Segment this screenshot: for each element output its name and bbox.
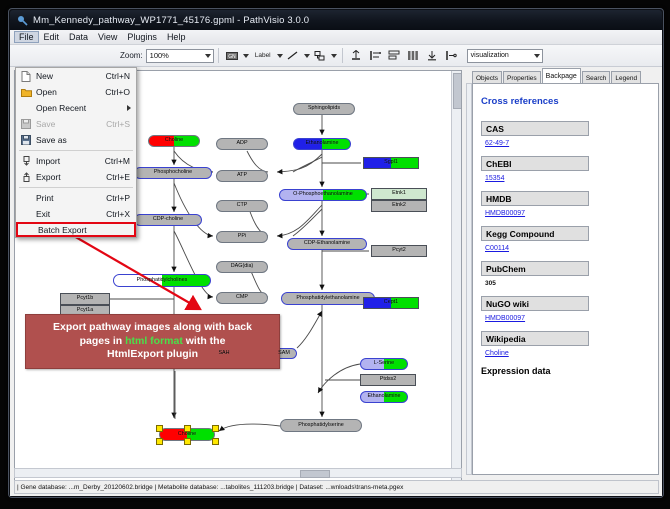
xref-header-label: CAS — [486, 124, 504, 134]
menu-separator — [19, 150, 133, 151]
pathway-node-gene[interactable]: Etnk2 — [371, 200, 427, 212]
canvas-vertical-scrollbar[interactable] — [451, 71, 461, 489]
file-menu-item-save[interactable]: SaveCtrl+S — [16, 116, 136, 132]
distribute-button[interactable] — [386, 47, 403, 64]
node-label: SAM — [278, 351, 290, 356]
menu-plugins[interactable]: Plugins — [122, 31, 162, 43]
datanode-dropdown-icon[interactable] — [242, 48, 250, 63]
menu-item-accelerator: Ctrl+S — [106, 119, 136, 129]
xref-value-chebi[interactable]: 15354 — [485, 175, 658, 182]
save-as-icon — [16, 135, 36, 145]
annotation-highlight: html format — [125, 335, 183, 347]
xref-header-label: Wikipedia — [486, 334, 526, 344]
annotation-line-2: pages in html format with the — [53, 335, 252, 349]
pathway-node-metabolite[interactable]: ATP — [216, 170, 268, 182]
xref-value-hmdb[interactable]: HMDB00097 — [485, 210, 658, 217]
node-label: CDP-Ethanolamine — [304, 241, 350, 246]
node-label: Ethanolamine — [306, 141, 339, 146]
xref-header-cas: CAS — [481, 121, 589, 136]
pathway-node-metabolite[interactable]: Phosphatidylcholines — [113, 274, 211, 287]
pathway-node-gene[interactable]: Etnk1 — [371, 188, 427, 200]
window-titlebar: Mm_Kennedy_pathway_WP1771_45176.gpml - P… — [10, 10, 662, 30]
selection-handle[interactable] — [212, 438, 219, 445]
xref-header-chebi: ChEBI — [481, 156, 589, 171]
menu-item-label: Import — [36, 156, 105, 166]
toolbar: Zoom: 100% GN Label — [10, 45, 662, 67]
visualization-value: visualization — [471, 52, 509, 59]
menu-edit[interactable]: Edit — [39, 31, 65, 43]
selection-handle[interactable] — [184, 438, 191, 445]
file-menu-item-exit[interactable]: ExitCtrl+X — [16, 206, 136, 222]
export-icon — [16, 172, 36, 182]
node-label: CTP — [237, 203, 248, 208]
menu-file[interactable]: File — [14, 31, 39, 43]
chevron-down-icon — [205, 54, 211, 58]
pathway-node-metabolite[interactable]: Phosphatidylserine — [280, 419, 362, 432]
node-label: Ethanolamine — [368, 394, 401, 399]
node-label: Phosphocholine — [154, 170, 192, 175]
file-menu-item-new[interactable]: NewCtrl+N — [16, 68, 136, 84]
xref-value-pubchem: 305 — [485, 280, 658, 287]
pathway-node-gene[interactable]: Pcyt2 — [371, 245, 427, 257]
canvas-horizontal-scrollbar[interactable] — [14, 468, 462, 478]
status-bar-text: | Gene database: ...m_Derby_20120602.bri… — [17, 484, 403, 491]
node-label: Etnk2 — [392, 203, 406, 208]
node-label: Phosphatidylethanolamine — [296, 296, 359, 301]
selection-handle[interactable] — [212, 425, 219, 432]
group-button[interactable] — [424, 47, 441, 64]
node-label: Choline — [178, 432, 196, 437]
line-tool-button[interactable] — [285, 47, 302, 64]
menu-item-accelerator: Ctrl+E — [106, 172, 136, 182]
menu-view[interactable]: View — [93, 31, 122, 43]
xref-value-kegg-compound[interactable]: C00114 — [485, 245, 658, 252]
label-tool-button[interactable]: Label — [251, 47, 275, 64]
menu-item-accelerator: Ctrl+O — [105, 87, 136, 97]
selection-handle[interactable] — [184, 425, 191, 432]
pathway-node-metabolite[interactable]: Phosphocholine — [134, 167, 212, 179]
application-window: Mm_Kennedy_pathway_WP1771_45176.gpml - P… — [8, 8, 664, 498]
pathway-node-metabolite[interactable]: O-Phosphoethanolamine — [279, 189, 367, 201]
pathway-node-metabolite[interactable]: Choline — [148, 135, 200, 147]
node-label: Ptdss2 — [380, 377, 396, 382]
node-label: Sphingolipids — [308, 106, 340, 111]
node-label: L-Serine — [374, 361, 394, 366]
xref-header-hmdb: HMDB — [481, 191, 589, 206]
visualization-select[interactable]: visualization — [467, 49, 543, 63]
annotation-line-2c: with the — [183, 335, 226, 347]
node-label: Pcyt1a — [77, 308, 93, 313]
menu-data[interactable]: Data — [64, 31, 93, 43]
tab-label: Backpage — [546, 73, 577, 80]
xref-header-kegg-compound: Kegg Compound — [481, 226, 589, 241]
pathway-node-metabolite[interactable]: CMP — [216, 292, 268, 304]
line-dropdown-icon[interactable] — [303, 48, 311, 63]
pathway-node-metabolite[interactable]: ADP — [216, 138, 268, 150]
annotation-line-2a: pages in — [80, 335, 126, 347]
menu-item-accelerator: Ctrl+P — [106, 193, 136, 203]
pathway-node-gene[interactable]: Sgpl1 — [363, 157, 419, 169]
toolbar-separator — [218, 48, 219, 63]
zoom-label: Zoom: — [120, 51, 143, 60]
node-label: Etnk1 — [392, 191, 406, 196]
file-menu-item-export[interactable]: ExportCtrl+E — [16, 169, 136, 185]
horizontal-scroll-thumb[interactable] — [300, 470, 330, 478]
file-menu-item-batch-export[interactable]: Batch Export — [16, 222, 136, 237]
node-label: Pcyt2 — [392, 248, 405, 253]
node-label: O-Phosphoethanolamine — [293, 192, 353, 197]
file-menu-item-open-recent[interactable]: Open Recent — [16, 100, 136, 116]
status-bar: | Gene database: ...m_Derby_20120602.bri… — [14, 480, 659, 494]
node-label: PPi — [238, 234, 246, 239]
file-menu-item-open[interactable]: OpenCtrl+O — [16, 84, 136, 100]
datanode-tool-button[interactable]: GN — [224, 47, 241, 64]
pathway-node-gene[interactable]: Cept1 — [363, 297, 419, 309]
shape-tool-button[interactable] — [312, 47, 329, 64]
menu-help[interactable]: Help — [162, 31, 191, 43]
menu-item-label: Print — [36, 193, 106, 203]
folder-icon — [16, 88, 36, 97]
file-menu-popup[interactable]: NewCtrl+NOpenCtrl+OOpen RecentSaveCtrl+S… — [15, 67, 137, 238]
pathvisio-icon — [17, 15, 28, 26]
cross-references-title: Cross references — [481, 96, 658, 107]
xref-value-wikipedia[interactable]: Choline — [485, 350, 658, 357]
pathway-node-metabolite[interactable]: DAG(dia) — [216, 261, 268, 273]
menu-item-accelerator: Ctrl+M — [105, 156, 136, 166]
backpage-panel: Cross references CAS62-49-7ChEBI15354HMD… — [472, 83, 659, 475]
xref-header-label: Kegg Compound — [486, 229, 554, 239]
screenshot-root: Mm_Kennedy_pathway_WP1771_45176.gpml - P… — [0, 0, 670, 509]
sidebar-panel: ObjectsPropertiesBackpageSearchLegend Cr… — [466, 70, 659, 490]
node-label: ADP — [236, 141, 247, 146]
node-label: Sgpl1 — [384, 160, 398, 165]
menubar: File Edit Data View Plugins Help — [10, 30, 662, 45]
xref-header-nugo-wiki: NuGO wiki — [481, 296, 589, 311]
xref-header-label: NuGO wiki — [486, 299, 529, 309]
zoom-select[interactable]: 100% — [146, 49, 214, 63]
selection-handle[interactable] — [156, 438, 163, 445]
menu-item-accelerator: Ctrl+N — [106, 71, 136, 81]
node-label: SAH — [218, 351, 229, 356]
pathway-node-gene[interactable]: Pcyt1b — [60, 293, 110, 305]
submenu-arrow-icon — [127, 105, 131, 111]
shape-dropdown-icon[interactable] — [330, 48, 338, 63]
node-label: ATP — [237, 173, 247, 178]
new-file-icon — [16, 71, 36, 82]
node-label: Phosphatidylcholines — [137, 278, 188, 283]
node-label: Pcyt1b — [77, 296, 93, 301]
tab-label: Properties — [507, 75, 537, 82]
tab-label: Legend — [615, 75, 637, 82]
xref-header-label: HMDB — [486, 194, 512, 204]
node-label: Cept1 — [384, 300, 398, 305]
node-label: Choline — [165, 138, 183, 143]
pathway-node-metabolite[interactable]: CDP-choline — [134, 214, 202, 226]
pathway-node-metabolite[interactable]: Sphingolipids — [293, 103, 355, 115]
tab-label: Search — [586, 75, 607, 82]
file-menu-item-save-as[interactable]: Save as — [16, 132, 136, 148]
pathway-node-metabolite[interactable]: CDP-Ethanolamine — [287, 238, 367, 250]
window-title: Mm_Kennedy_pathway_WP1771_45176.gpml - P… — [33, 15, 309, 26]
menu-item-label: Save as — [36, 135, 130, 145]
sidebar-tab-backpage[interactable]: Backpage — [542, 68, 581, 84]
menu-item-label: Exit — [36, 209, 106, 219]
node-label: DAG(dia) — [231, 264, 253, 269]
xref-header-pubchem: PubChem — [481, 261, 589, 276]
menu-item-label: New — [36, 71, 106, 81]
pathway-node-metabolite[interactable]: PPi — [216, 231, 268, 243]
xref-header-wikipedia: Wikipedia — [481, 331, 589, 346]
pathway-node-metabolite[interactable]: L-Serine — [360, 358, 408, 370]
annotation-line-1: Export pathway images along with back — [53, 321, 252, 335]
menu-separator — [19, 187, 133, 188]
label-tool-text: Label — [253, 52, 273, 59]
menu-item-label: Open Recent — [36, 103, 130, 113]
pathway-node-metabolite[interactable]: CTP — [216, 200, 268, 212]
xref-header-label: ChEBI — [486, 159, 512, 169]
pathway-node-metabolite[interactable]: Ethanolamine — [293, 138, 351, 150]
menu-item-accelerator: Ctrl+X — [106, 209, 136, 219]
sidebar-tabs: ObjectsPropertiesBackpageSearchLegend — [472, 70, 659, 84]
xref-header-label: PubChem — [486, 264, 526, 274]
pathway-node-metabolite[interactable]: Ethanolamine — [360, 391, 408, 403]
stack-button[interactable] — [405, 47, 422, 64]
file-menu-item-import[interactable]: ImportCtrl+M — [16, 153, 136, 169]
pathway-node-gene[interactable]: Ptdss2 — [360, 374, 416, 386]
toolbar-separator-2 — [342, 48, 343, 63]
window-client-area: File Edit Data View Plugins Help Zoom: 1… — [10, 30, 662, 496]
ungroup-button[interactable] — [443, 47, 460, 64]
pathway-node-metabolite[interactable]: Phosphatidylethanolamine — [281, 292, 375, 305]
align-top-button[interactable] — [348, 47, 365, 64]
menu-item-label: Batch Export — [38, 225, 128, 235]
chevron-down-icon-2 — [534, 54, 540, 58]
node-label: CMP — [236, 295, 248, 300]
vertical-scroll-thumb[interactable] — [453, 73, 462, 109]
svg-text:GN: GN — [228, 54, 236, 60]
align-left-button[interactable] — [367, 47, 384, 64]
menu-item-label: Export — [36, 172, 106, 182]
label-dropdown-icon[interactable] — [276, 48, 284, 63]
cross-reference-list: CAS62-49-7ChEBI15354HMDBHMDB00097Kegg Co… — [473, 121, 658, 357]
xref-value-nugo-wiki[interactable]: HMDB00097 — [485, 315, 658, 322]
selection-handle[interactable] — [156, 425, 163, 432]
import-icon — [16, 156, 36, 166]
file-menu-item-print[interactable]: PrintCtrl+P — [16, 190, 136, 206]
zoom-value: 100% — [150, 51, 169, 60]
tab-label: Objects — [476, 75, 498, 82]
node-label: CDP-choline — [153, 217, 183, 222]
annotation-callout: Export pathway images along with back pa… — [25, 314, 280, 369]
menu-item-label: Save — [36, 119, 106, 129]
expression-data-title: Expression data — [481, 366, 658, 376]
node-label: Phosphatidylserine — [298, 423, 344, 428]
save-icon — [16, 119, 36, 129]
menu-item-label: Open — [36, 87, 105, 97]
xref-value-cas[interactable]: 62-49-7 — [485, 140, 658, 147]
